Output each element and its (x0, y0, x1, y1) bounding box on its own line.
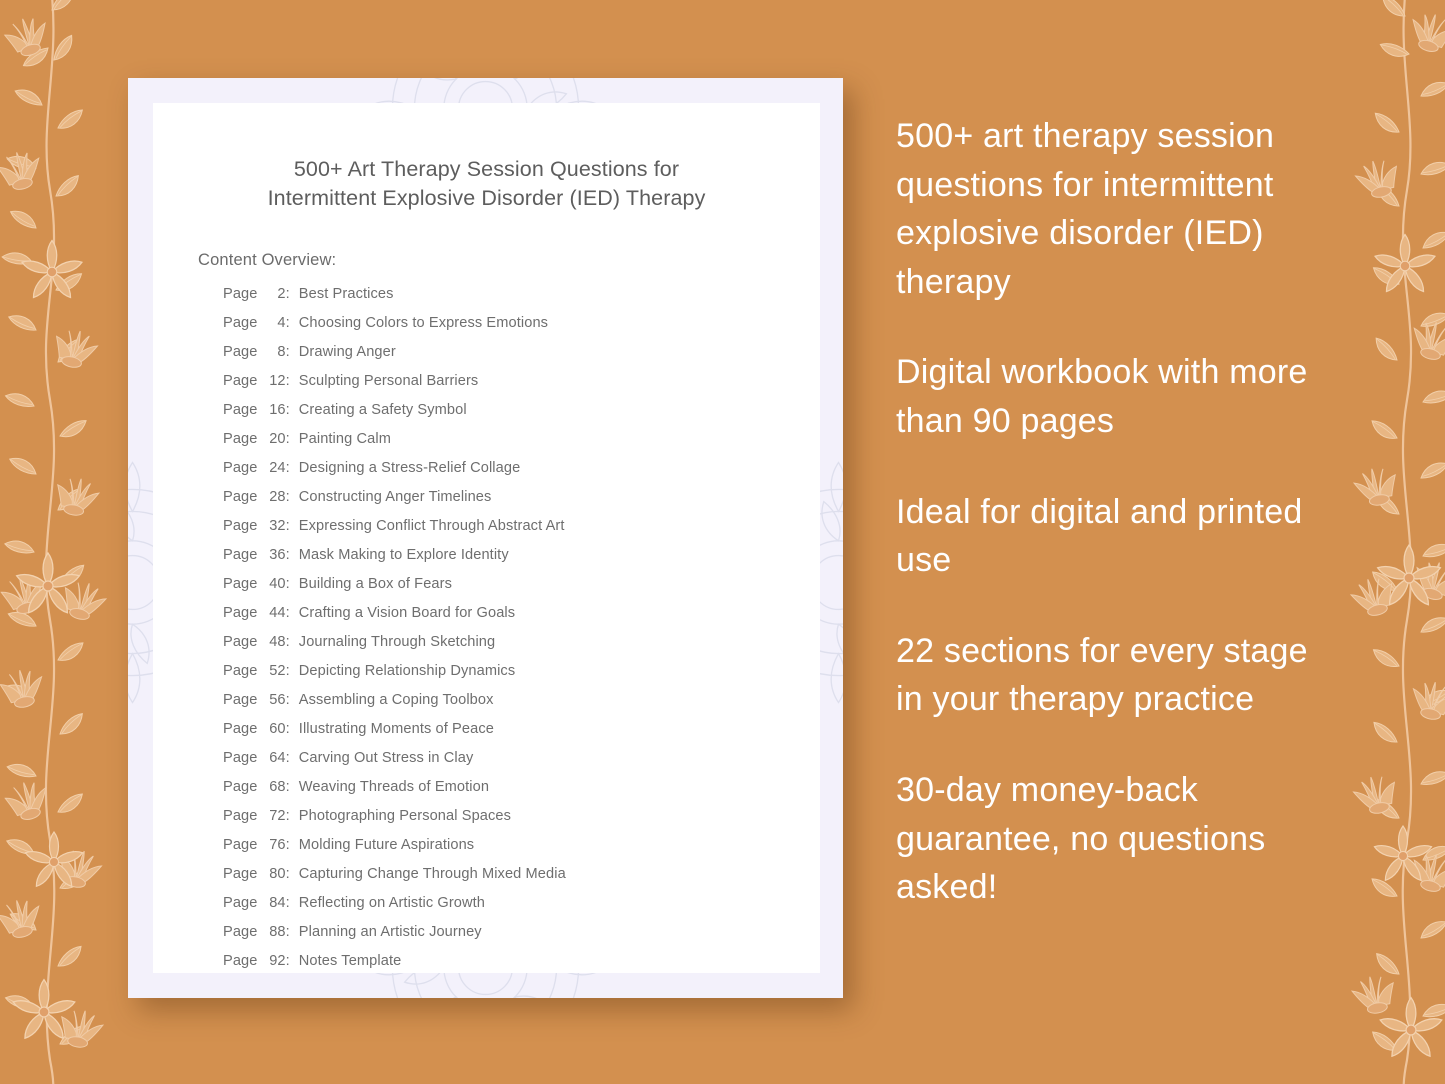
page-title: 500+ Art Therapy Session Questions for I… (199, 155, 774, 214)
page-title-line-2: Intermittent Explosive Disorder (IED) Th… (199, 184, 774, 213)
toc-page-word: Page (223, 837, 262, 853)
toc-entry-title: Reflecting on Artistic Growth (299, 895, 485, 911)
toc-entry-title: Drawing Anger (299, 344, 396, 360)
toc-colon: : (286, 779, 290, 795)
toc-page-word: Page (223, 518, 262, 534)
toc-entry: Page 4:Choosing Colors to Express Emotio… (223, 315, 820, 344)
toc-entry: Page 40:Building a Box of Fears (223, 576, 820, 605)
toc-entry-title: Best Practices (299, 286, 394, 302)
toc-page-word: Page (223, 692, 262, 708)
toc-entry: Page 28:Constructing Anger Timelines (223, 489, 820, 518)
toc-page-number: 76 (262, 837, 286, 853)
toc-entry-title: Planning an Artistic Journey (299, 924, 482, 940)
toc-colon: : (286, 518, 290, 534)
toc-entry: Page 20:Painting Calm (223, 431, 820, 460)
toc-entry: Page 8:Drawing Anger (223, 344, 820, 373)
toc-page-word: Page (223, 402, 262, 418)
toc-colon: : (286, 489, 290, 505)
toc-page-word: Page (223, 605, 262, 621)
toc-page-word: Page (223, 895, 262, 911)
toc-entry: Page 84:Reflecting on Artistic Growth (223, 895, 820, 924)
toc-page-word: Page (223, 460, 262, 476)
left-floral-border (0, 0, 132, 1084)
toc-colon: : (286, 373, 290, 389)
toc-colon: : (286, 634, 290, 650)
toc-entry: Page 64:Carving Out Stress in Clay (223, 750, 820, 779)
toc-page-number: 88 (262, 924, 286, 940)
toc-colon: : (286, 808, 290, 824)
toc-page-word: Page (223, 547, 262, 563)
toc-entry: Page 56:Assembling a Coping Toolbox (223, 692, 820, 721)
toc-page-number: 40 (262, 576, 286, 592)
toc-page-word: Page (223, 808, 262, 824)
toc-entry: Page 12:Sculpting Personal Barriers (223, 373, 820, 402)
toc-entry-title: Carving Out Stress in Clay (299, 750, 474, 766)
toc-colon: : (286, 344, 290, 360)
toc-entry: Page 80:Capturing Change Through Mixed M… (223, 866, 820, 895)
toc-entry: Page 16:Creating a Safety Symbol (223, 402, 820, 431)
toc-page-number: 72 (262, 808, 286, 824)
toc-entry-title: Sculpting Personal Barriers (299, 373, 479, 389)
toc-entry-title: Choosing Colors to Express Emotions (299, 315, 548, 331)
toc-entry: Page 88:Planning an Artistic Journey (223, 924, 820, 953)
toc-page-number: 84 (262, 895, 286, 911)
toc-page-number: 28 (262, 489, 286, 505)
toc-entry-title: Mask Making to Explore Identity (299, 547, 509, 563)
toc-entry: Page 52:Depicting Relationship Dynamics (223, 663, 820, 692)
toc-colon: : (286, 663, 290, 679)
toc-colon: : (286, 576, 290, 592)
toc-colon: : (286, 866, 290, 882)
floral-vine-icon (1317, 0, 1445, 1084)
toc-colon: : (286, 286, 290, 302)
toc-page-number: 36 (262, 547, 286, 563)
toc-colon: : (286, 431, 290, 447)
toc-entry-title: Illustrating Moments of Peace (299, 721, 494, 737)
toc-page-number: 8 (262, 344, 286, 360)
toc-page-number: 24 (262, 460, 286, 476)
toc-page-number: 16 (262, 402, 286, 418)
toc-page-word: Page (223, 431, 262, 447)
toc-page-number: 32 (262, 518, 286, 534)
toc-entry: Page 36:Mask Making to Explore Identity (223, 547, 820, 576)
toc-page-word: Page (223, 750, 262, 766)
toc-colon: : (286, 837, 290, 853)
toc-page-number: 68 (262, 779, 286, 795)
toc-colon: : (286, 895, 290, 911)
toc-entry-title: Notes Template (299, 953, 402, 969)
toc-entry-title: Designing a Stress-Relief Collage (299, 460, 521, 476)
toc-entry-title: Building a Box of Fears (299, 576, 452, 592)
marketing-bullet: Ideal for digital and printed use (896, 488, 1324, 585)
toc-page-word: Page (223, 866, 262, 882)
toc-entry: Page 44:Crafting a Vision Board for Goal… (223, 605, 820, 634)
toc-page-number: 52 (262, 663, 286, 679)
toc-entry: Page 48:Journaling Through Sketching (223, 634, 820, 663)
toc-colon: : (286, 402, 290, 418)
toc-page-word: Page (223, 953, 262, 969)
toc-entry-title: Crafting a Vision Board for Goals (299, 605, 515, 621)
marketing-bullet: Digital workbook with more than 90 pages (896, 348, 1324, 445)
toc-page-word: Page (223, 779, 262, 795)
toc-entry-title: Constructing Anger Timelines (299, 489, 492, 505)
toc-page-word: Page (223, 315, 262, 331)
toc-entry: Page 2:Best Practices (223, 286, 820, 315)
toc-page-word: Page (223, 924, 262, 940)
toc-page-number: 60 (262, 721, 286, 737)
toc-page-number: 56 (262, 692, 286, 708)
toc-entry-title: Photographing Personal Spaces (299, 808, 511, 824)
toc-colon: : (286, 547, 290, 563)
toc-colon: : (286, 692, 290, 708)
toc-page-word: Page (223, 663, 262, 679)
toc-entry-title: Painting Calm (299, 431, 391, 447)
toc-page-word: Page (223, 721, 262, 737)
right-floral-border (1317, 0, 1445, 1084)
toc-page-word: Page (223, 286, 262, 302)
toc-entry: Page 24:Designing a Stress-Relief Collag… (223, 460, 820, 489)
marketing-bullet: 30-day money-back guarantee, no question… (896, 766, 1324, 912)
toc-entry-title: Creating a Safety Symbol (299, 402, 467, 418)
toc-entry-title: Expressing Conflict Through Abstract Art (299, 518, 565, 534)
toc-page-number: 44 (262, 605, 286, 621)
toc-page-number: 2 (262, 286, 286, 302)
workbook-preview-card: 500+ Art Therapy Session Questions for I… (128, 78, 843, 998)
toc-colon: : (286, 605, 290, 621)
toc-page-number: 12 (262, 373, 286, 389)
toc-page-number: 80 (262, 866, 286, 882)
toc-page-number: 64 (262, 750, 286, 766)
toc-colon: : (286, 315, 290, 331)
toc-page-word: Page (223, 373, 262, 389)
document-page-sheet: 500+ Art Therapy Session Questions for I… (153, 103, 820, 973)
toc-entry-title: Assembling a Coping Toolbox (299, 692, 494, 708)
toc-entry-title: Weaving Threads of Emotion (299, 779, 489, 795)
toc-page-number: 92 (262, 953, 286, 969)
marketing-bullet: 500+ art therapy session questions for i… (896, 112, 1324, 306)
toc-page-word: Page (223, 344, 262, 360)
toc-entry: Page 72:Photographing Personal Spaces (223, 808, 820, 837)
toc-entry: Page 60:Illustrating Moments of Peace (223, 721, 820, 750)
toc-page-number: 4 (262, 315, 286, 331)
toc-entry: Page 68:Weaving Threads of Emotion (223, 779, 820, 808)
page-title-line-1: 500+ Art Therapy Session Questions for (199, 155, 774, 184)
toc-page-word: Page (223, 489, 262, 505)
toc-colon: : (286, 924, 290, 940)
toc-colon: : (286, 721, 290, 737)
toc-page-number: 20 (262, 431, 286, 447)
table-of-contents: Page 2:Best PracticesPage 4:Choosing Col… (223, 286, 820, 982)
toc-entry-title: Molding Future Aspirations (299, 837, 474, 853)
toc-page-word: Page (223, 576, 262, 592)
content-overview-label: Content Overview: (198, 251, 820, 270)
toc-colon: : (286, 460, 290, 476)
toc-entry-title: Journaling Through Sketching (299, 634, 495, 650)
toc-entry: Page 32:Expressing Conflict Through Abst… (223, 518, 820, 547)
toc-colon: : (286, 953, 290, 969)
toc-entry: Page 76:Molding Future Aspirations (223, 837, 820, 866)
marketing-bullet-list: 500+ art therapy session questions for i… (896, 112, 1324, 912)
toc-entry-title: Capturing Change Through Mixed Media (299, 866, 566, 882)
toc-entry: Page 92:Notes Template (223, 953, 820, 982)
floral-vine-icon (0, 0, 132, 1084)
toc-colon: : (286, 750, 290, 766)
toc-entry-title: Depicting Relationship Dynamics (299, 663, 515, 679)
toc-page-word: Page (223, 634, 262, 650)
toc-page-number: 48 (262, 634, 286, 650)
marketing-bullet: 22 sections for every stage in your ther… (896, 627, 1324, 724)
